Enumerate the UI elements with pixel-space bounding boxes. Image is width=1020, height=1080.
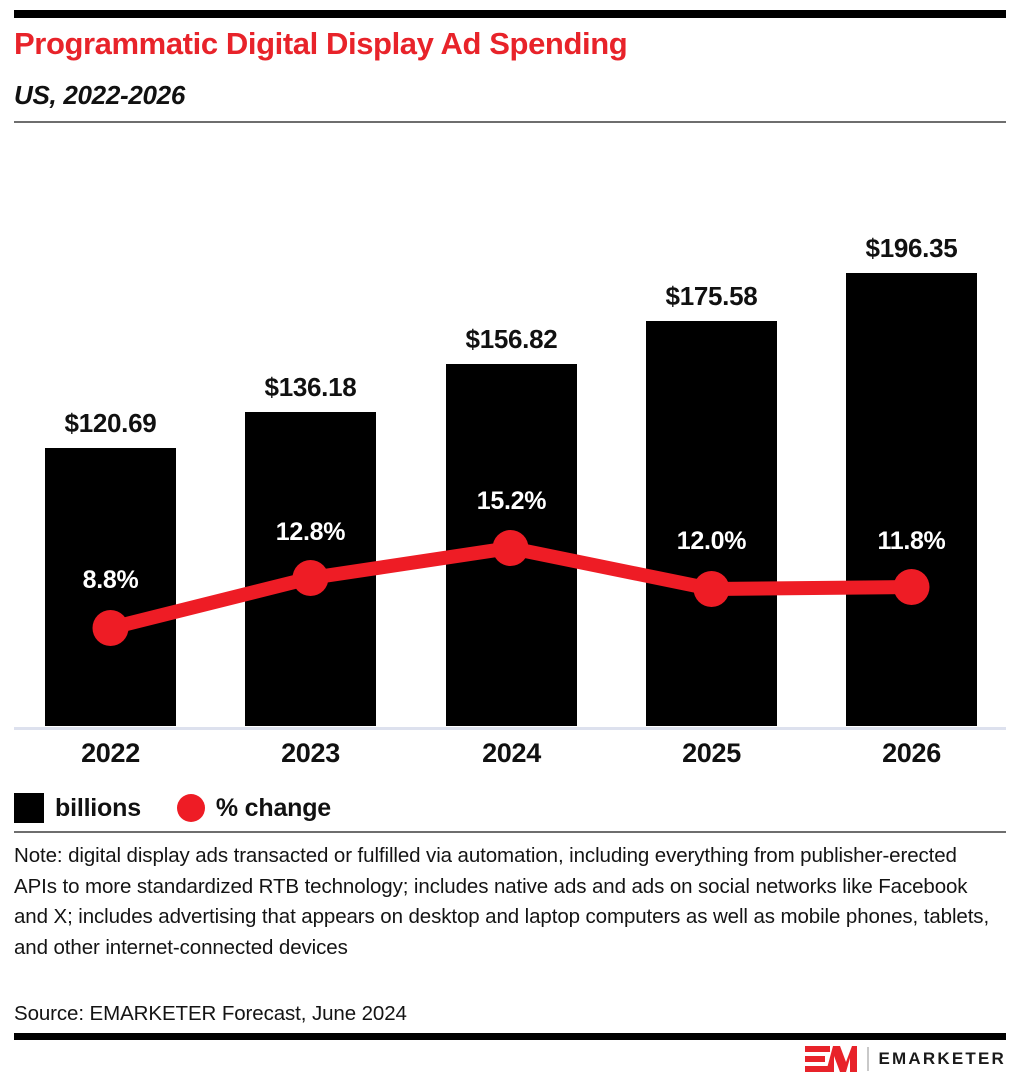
pct-label-2023: 12.8% bbox=[245, 518, 376, 547]
legend-label-billions: billions bbox=[55, 794, 141, 823]
legend-item-percent-change: % change bbox=[177, 794, 331, 823]
page-subtitle: US, 2022-2026 bbox=[14, 80, 185, 111]
brand-logo: EMARKETER bbox=[805, 1046, 1006, 1072]
subtitle-divider bbox=[14, 121, 1006, 123]
legend-circle-icon bbox=[177, 794, 205, 822]
legend-square-icon bbox=[14, 793, 44, 823]
pct-label-2022: 8.8% bbox=[45, 566, 176, 595]
pct-label-2026: 11.8% bbox=[846, 527, 977, 556]
x-tick-2026: 2026 bbox=[846, 738, 977, 769]
x-tick-2024: 2024 bbox=[446, 738, 577, 769]
chart-legend: billions % change bbox=[14, 791, 331, 825]
data-point-2023 bbox=[293, 560, 329, 596]
data-point-2026 bbox=[894, 569, 930, 605]
plot-area: $120.69 $136.18 $156.82 $175.58 $196.35 … bbox=[0, 150, 1020, 730]
page-title: Programmatic Digital Display Ad Spending bbox=[14, 26, 627, 62]
brand-divider bbox=[867, 1047, 869, 1071]
chart-note: Note: digital display ads transacted or … bbox=[14, 841, 996, 963]
data-point-2025 bbox=[694, 571, 730, 607]
legend-item-billions: billions bbox=[14, 793, 141, 823]
x-tick-2025: 2025 bbox=[646, 738, 777, 769]
em-logo-icon bbox=[805, 1046, 857, 1072]
percent-change-line-chart bbox=[0, 150, 1020, 730]
legend-label-percent-change: % change bbox=[216, 794, 331, 823]
x-axis: 2022 2023 2024 2025 2026 bbox=[0, 738, 1020, 778]
pct-label-2025: 12.0% bbox=[646, 527, 777, 556]
brand-name: EMARKETER bbox=[879, 1049, 1006, 1069]
pct-label-2024: 15.2% bbox=[446, 487, 577, 516]
data-point-2024 bbox=[493, 530, 529, 566]
bottom-rule-divider bbox=[14, 1033, 1006, 1040]
x-tick-2023: 2023 bbox=[245, 738, 376, 769]
x-tick-2022: 2022 bbox=[45, 738, 176, 769]
data-point-2022 bbox=[93, 610, 129, 646]
chart-page: Programmatic Digital Display Ad Spending… bbox=[0, 0, 1020, 1080]
chart-source: Source: EMARKETER Forecast, June 2024 bbox=[14, 1000, 407, 1028]
top-rule-divider bbox=[14, 10, 1006, 18]
footnote-divider bbox=[14, 831, 1006, 833]
